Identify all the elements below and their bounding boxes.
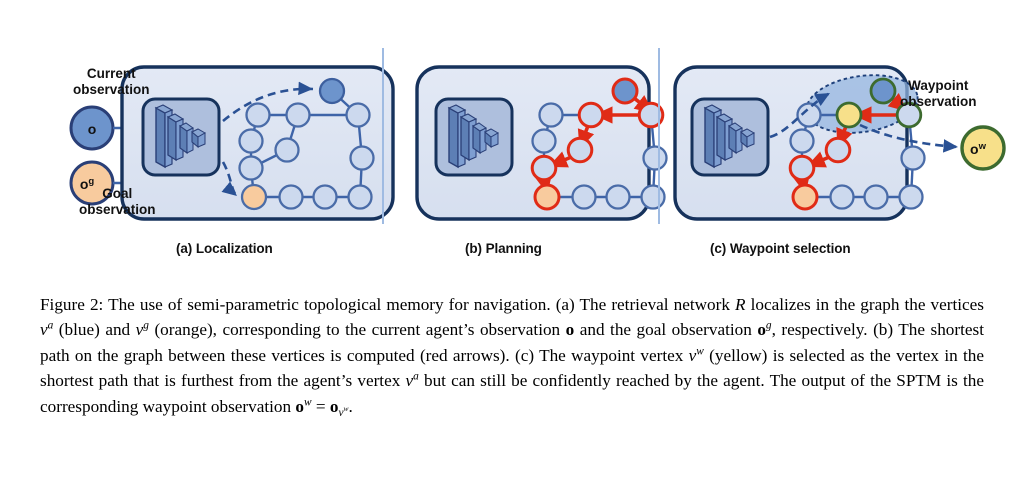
vertex-goal-b xyxy=(535,185,559,209)
vertex-current-b xyxy=(613,79,637,103)
panel-divider-2 xyxy=(658,48,660,224)
vertex-current-c xyxy=(871,79,895,103)
current-observation-label: o xyxy=(88,121,97,137)
vertex-goal-c xyxy=(793,185,817,209)
current-observation-caption: Current observation xyxy=(73,66,150,98)
vertex-current-a xyxy=(320,79,344,103)
panel-label-c: (c) Waypoint selection xyxy=(710,241,851,256)
panel-label-a: (a) Localization xyxy=(176,241,273,256)
figure-illustration: o og xyxy=(0,0,1024,275)
vertex-goal-a xyxy=(242,185,266,209)
figure-root: o og xyxy=(0,0,1024,489)
figure-caption: Figure 2: The use of semi-parametric top… xyxy=(40,292,984,419)
panel-label-b: (b) Planning xyxy=(465,241,542,256)
vertex-waypoint-c xyxy=(837,103,861,127)
panel-divider-1 xyxy=(382,48,384,224)
figure-number: Figure 2: xyxy=(40,295,103,314)
goal-observation-caption: Goal observation xyxy=(79,186,156,218)
waypoint-observation-caption: Waypoint observation xyxy=(900,78,977,110)
